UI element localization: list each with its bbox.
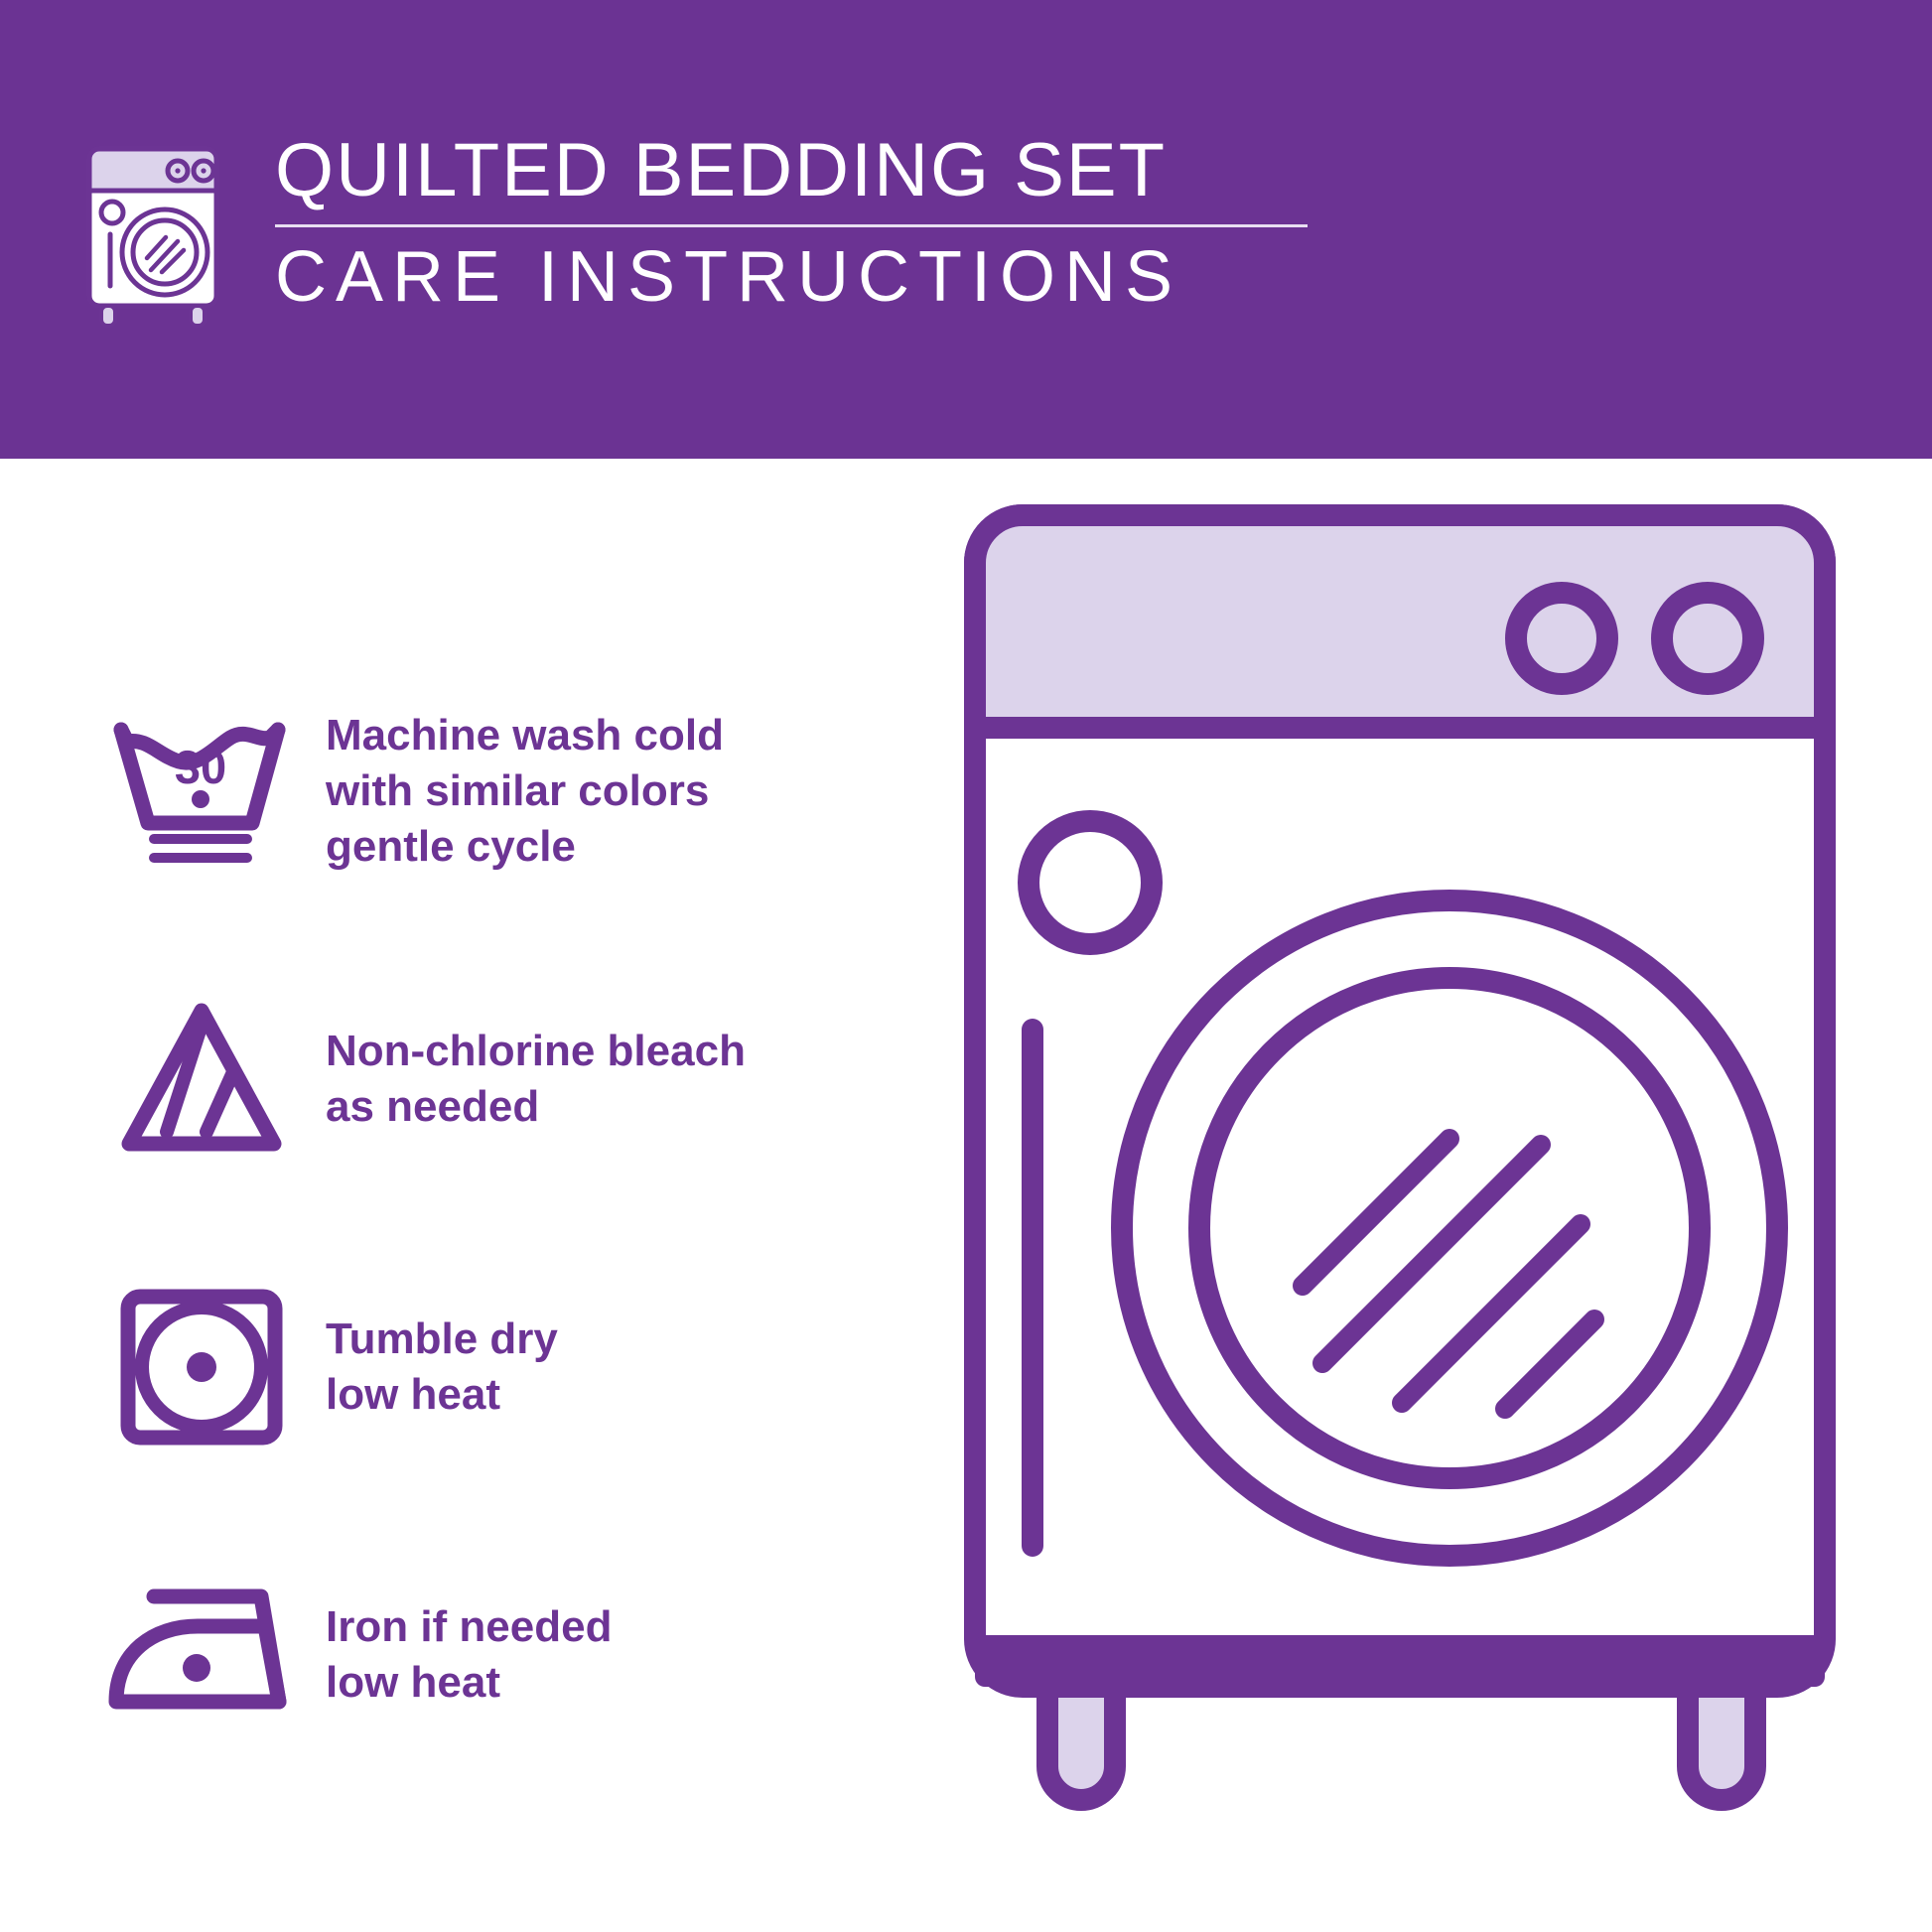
care-label-iron: Iron if needed low heat bbox=[308, 1599, 612, 1711]
leg-left bbox=[1047, 1687, 1115, 1800]
care-label-line: low heat bbox=[326, 1655, 612, 1711]
care-label-line: Non-chlorine bleach bbox=[326, 1024, 746, 1079]
care-label-line: Iron if needed bbox=[326, 1599, 612, 1655]
care-instruction-list: 30 Machine wash cold with similar colors… bbox=[94, 647, 948, 1799]
care-label-tumble-dry: Tumble dry low heat bbox=[308, 1311, 558, 1423]
care-label-line: gentle cycle bbox=[326, 819, 724, 875]
care-label-line: as needed bbox=[326, 1079, 746, 1135]
dial-right[interactable] bbox=[1662, 593, 1753, 684]
care-label-line: with similar colors bbox=[326, 763, 724, 819]
care-label-line: Machine wash cold bbox=[326, 708, 724, 763]
care-row-tumble-dry: Tumble dry low heat bbox=[94, 1223, 948, 1511]
page-title: QUILTED BEDDING SET bbox=[271, 129, 1308, 212]
iron-low-heat-icon bbox=[94, 1581, 308, 1729]
care-label-machine-wash: Machine wash cold with similar colors ge… bbox=[308, 708, 724, 875]
header-content: QUILTED BEDDING SET CARE INSTRUCTIONS bbox=[77, 129, 1308, 330]
washing-machine-icon bbox=[77, 141, 231, 330]
care-label-line: Tumble dry bbox=[326, 1311, 558, 1367]
tumble-dry-low-icon bbox=[94, 1283, 308, 1451]
wash-temperature-label: 30 bbox=[174, 741, 225, 793]
care-label-line: low heat bbox=[326, 1367, 558, 1423]
page-subtitle: CARE INSTRUCTIONS bbox=[271, 237, 1308, 317]
washing-machine-illustration bbox=[953, 493, 1847, 1913]
header-titles: QUILTED BEDDING SET CARE INSTRUCTIONS bbox=[271, 129, 1308, 317]
care-row-iron: Iron if needed low heat bbox=[94, 1511, 948, 1799]
non-chlorine-bleach-triangle-icon bbox=[94, 995, 308, 1164]
care-label-bleach: Non-chlorine bleach as needed bbox=[308, 1024, 746, 1135]
care-row-bleach: Non-chlorine bleach as needed bbox=[94, 935, 948, 1223]
page-header: QUILTED BEDDING SET CARE INSTRUCTIONS bbox=[0, 0, 1932, 459]
wash-tub-30-icon: 30 bbox=[94, 712, 308, 871]
page-body: 30 Machine wash cold with similar colors… bbox=[0, 459, 1932, 1932]
leg-right bbox=[1688, 1687, 1755, 1800]
care-row-machine-wash: 30 Machine wash cold with similar colors… bbox=[94, 647, 948, 935]
dial-left[interactable] bbox=[1516, 593, 1607, 684]
title-divider bbox=[275, 224, 1308, 227]
